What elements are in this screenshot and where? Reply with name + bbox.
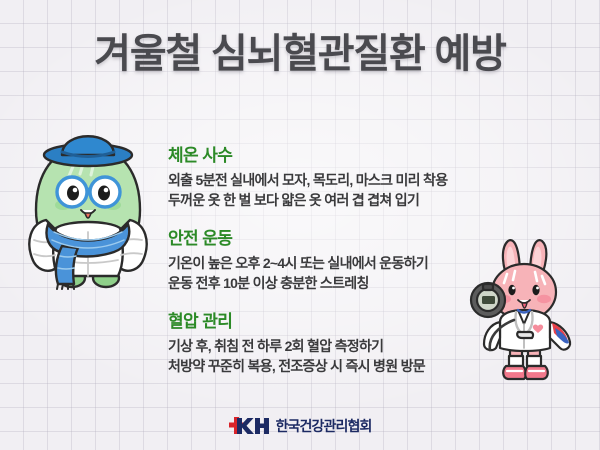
tip-section-1: 체온 사수 외출 5분전 실내에서 모자, 목도리, 마스크 미리 착용 두꺼운… — [168, 145, 488, 210]
kh-logo-mark-icon — [229, 416, 269, 436]
tip-section-3: 혈압 관리 기상 후, 취침 전 하루 2회 혈압 측정하기 처방약 꾸준히 복… — [168, 311, 488, 376]
footer-logo: 한국건강관리협회 — [0, 416, 600, 436]
green-mascot-svg — [22, 128, 154, 290]
poster-canvas: 겨울철 심뇌혈관질환 예방 — [0, 0, 600, 450]
green-mascot-winter-illustration — [22, 128, 154, 295]
tip-heading-1: 체온 사수 — [168, 145, 488, 166]
tip-line-3-2: 처방약 꾸준히 복용, 전조증상 시 즉시 병원 방문 — [168, 356, 488, 376]
tip-section-2: 안전 운동 기온이 높은 오후 2~4시 또는 실내에서 운동하기 운동 전후 … — [168, 228, 488, 293]
tip-heading-3: 혈압 관리 — [168, 311, 488, 332]
footer-organization-name: 한국건강관리협회 — [276, 416, 372, 436]
page-title: 겨울철 심뇌혈관질환 예방 — [0, 30, 600, 78]
tip-line-1-1: 외출 5분전 실내에서 모자, 목도리, 마스크 미리 착용 — [168, 170, 488, 190]
tip-line-2-1: 기온이 높은 오후 2~4시 또는 실내에서 운동하기 — [168, 253, 488, 273]
tip-line-1-2: 두꺼운 옷 한 벌 보다 얇은 옷 여러 겹 겹쳐 입기 — [168, 190, 488, 210]
tip-heading-2: 안전 운동 — [168, 228, 488, 249]
tips-list: 체온 사수 외출 5분전 실내에서 모자, 목도리, 마스크 미리 착용 두꺼운… — [168, 145, 488, 376]
tip-line-3-1: 기상 후, 취침 전 하루 2회 혈압 측정하기 — [168, 336, 488, 356]
tip-line-2-2: 운동 전후 10분 이상 충분한 스트레칭 — [168, 273, 488, 293]
